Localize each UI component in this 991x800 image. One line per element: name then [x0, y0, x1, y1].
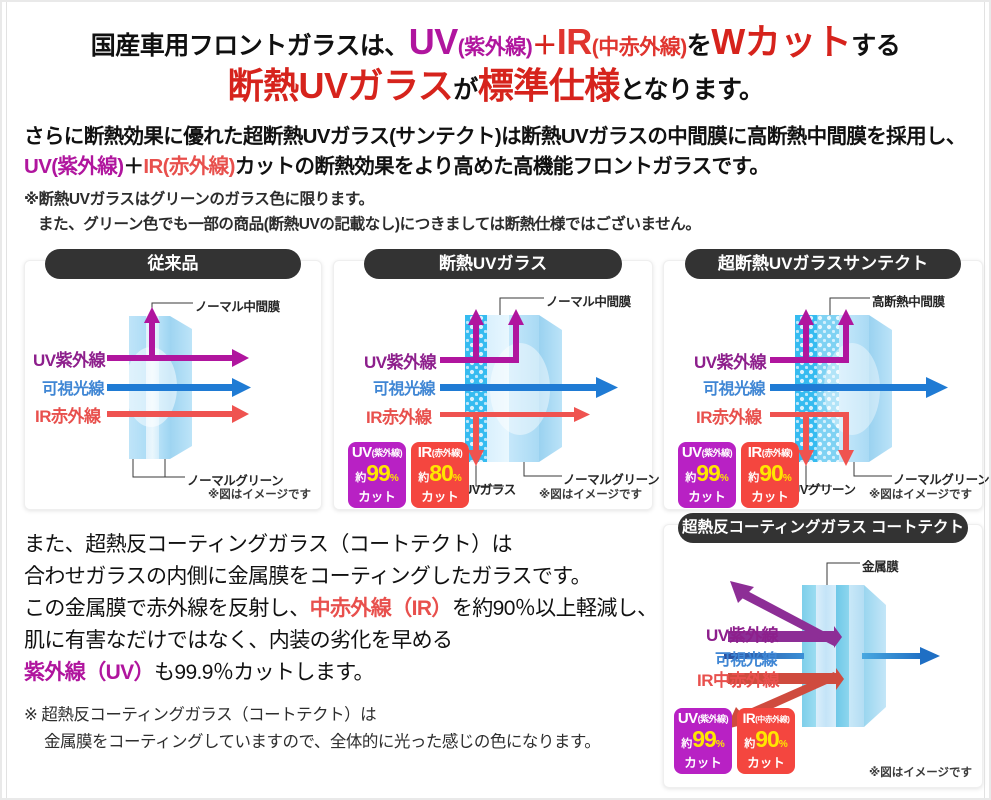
image-note-coat-tect: ※図はイメージです — [869, 764, 972, 780]
image-note-uv-insulated: ※図はイメージです — [539, 486, 642, 502]
headline-wo: を — [687, 32, 712, 60]
coat-tect-ir-highlight: 中赤外線（IR） — [310, 597, 452, 620]
panel-title-coat-tect: 超熱反コーティングガラス コートテクト — [678, 513, 968, 543]
callout-line-bottom-conventional — [133, 459, 185, 477]
badge-uv-head: UV(紫外線) — [674, 711, 732, 727]
badge-ir-head: IR(赤外線) — [411, 445, 469, 461]
image-note-super-uv: ※図はイメージです — [869, 486, 972, 502]
ray-label-visible: 可視光線 — [42, 375, 104, 399]
ray-label-visible: 可視光線 — [703, 375, 765, 399]
headline-plus: ＋ — [532, 32, 557, 60]
ray-label-ir: IR赤外線 — [696, 403, 762, 428]
callout-normal-interlayer: ノーマル中間膜 — [195, 296, 280, 315]
badge-group-uv-insulated: UV(紫外線) 約99% カット IR(赤外線) 約80% カット — [348, 442, 469, 508]
ray-label-ir: IR赤外線 — [35, 402, 101, 427]
page-headline: 国産車用フロントガラスは、UV(紫外線)＋IR(中赤外線)をWカットする 断熱U… — [2, 20, 989, 108]
badge-ir-cut-label: カット — [737, 756, 795, 770]
ray-label-uv: UV紫外線 — [364, 348, 436, 373]
badge-uv-cut: UV(紫外線) 約99% カット — [674, 708, 732, 774]
ray-label-visible: 可視光線 — [373, 375, 435, 399]
badge-ir-cut-label: カット — [411, 490, 469, 504]
headline-seg: 国産車用フロントガラスは、 — [91, 32, 409, 60]
glass-color-note: ※断熱UVガラスはグリーンのガラス色に限ります。 また、グリーン色でも一部の商品… — [24, 188, 700, 238]
panel-super-uv-suntect: 超断熱UVガラスサンテクト — [663, 260, 983, 510]
ray-label-uv: UV紫外線 — [33, 346, 105, 371]
coat-tect-note-line-1: ※ 超熱反コーティングガラス（コートテクト）は — [24, 706, 376, 724]
headline-line-2: 断熱UVガラスが標準仕様となります。 — [2, 64, 989, 108]
coat-tect-line-5: 紫外線（UV）も99.9％カットします。 — [24, 657, 658, 689]
coat-tect-note-line-2: 金属膜をコーティングしていますので、全体的に光った感じの色になります。 — [24, 729, 600, 756]
badge-ir-cut: IR(赤外線) 約80% カット — [411, 442, 469, 508]
badge-uv-value: 約99% — [678, 462, 736, 490]
panel-coat-tect: 超熱反コーティングガラス コートテクト — [663, 524, 983, 788]
headline-standard: 標準仕様 — [478, 65, 620, 106]
coat-tect-uv-highlight: 紫外線（UV） — [24, 661, 154, 684]
badge-ir-cut-label: カット — [741, 490, 799, 504]
coat-tect-description: また、超熱反コーティングガラス（コートテクト）は 合わせガラスの内側に金属膜をコ… — [24, 529, 658, 689]
headline-ir-paren: (中赤外線) — [592, 36, 687, 59]
coat-tect-note: ※ 超熱反コーティングガラス（コートテクト）は 金属膜をコーティングしていますの… — [24, 702, 600, 755]
subtitle-ir: IR(赤外線) — [143, 155, 234, 178]
ray-label-ir: IR赤外線 — [366, 403, 432, 428]
badge-uv-value: 約99% — [674, 728, 732, 756]
panel-uv-insulated: 断熱UVガラス — [333, 260, 653, 510]
badge-ir-cut: IR(中赤外線) 約90% カット — [737, 708, 795, 774]
callout-metal-film: 金属膜 — [862, 556, 898, 575]
badge-uv-head: UV(紫外線) — [678, 445, 736, 461]
badge-ir-head: IR(赤外線) — [741, 445, 799, 461]
badge-uv-cut-label: カット — [348, 490, 406, 504]
panel-conventional: 従来品 — [24, 260, 322, 510]
headline-product: 断熱UVガラス — [227, 65, 453, 106]
subtitle-block: さらに断熱効果に優れた超断熱UVガラス(サンテクト)は断熱UVガラスの中間膜に高… — [24, 122, 973, 181]
badge-uv-cut: UV(紫外線) 約99% カット — [678, 442, 736, 508]
badge-uv-value: 約99% — [348, 462, 406, 490]
coat-tect-line-4: 肌に有害なだけではなく、内装の劣化を早める — [24, 625, 658, 657]
panel-title-super-uv-suntect: 超断熱UVガラスサンテクト — [685, 249, 961, 279]
subtitle-uv: UV(紫外線) — [24, 155, 123, 178]
note-line-2: また、グリーン色でも一部の商品(断熱UVの記載なし)につきましては断熱仕様ではご… — [24, 213, 700, 238]
badge-ir-cut: IR(赤外線) 約90% カット — [741, 442, 799, 508]
subtitle-line-2: UV(紫外線)＋IR(赤外線)カットの断熱効果をより高めた高機能フロントガラスで… — [24, 152, 973, 182]
headline-uv: UV — [409, 21, 458, 62]
headline-wcut: Wカット — [711, 21, 851, 62]
headline-suru: する — [851, 32, 900, 60]
panel-title-uv-insulated: 断熱UVガラス — [364, 249, 622, 279]
headline-ir: IR — [557, 21, 592, 62]
badge-uv-cut-label: カット — [678, 490, 736, 504]
badge-uv-head: UV(紫外線) — [348, 445, 406, 461]
badge-uv-cut-label: カット — [674, 756, 732, 770]
badge-ir-value: 約90% — [737, 728, 795, 756]
ray-label-ir-mid: IR中赤外線 — [697, 666, 779, 691]
note-line-1: ※断熱UVガラスはグリーンのガラス色に限ります。 — [24, 191, 374, 208]
badge-ir-value: 約80% — [411, 462, 469, 490]
callout-line-metal-film — [827, 563, 860, 585]
callout-normal-interlayer: ノーマル中間膜 — [546, 291, 631, 310]
infographic-page: 国産車用フロントガラスは、UV(紫外線)＋IR(中赤外線)をWカットする 断熱U… — [0, 0, 991, 800]
badge-uv-cut: UV(紫外線) 約99% カット — [348, 442, 406, 508]
badge-ir-value: 約90% — [741, 462, 799, 490]
callout-line-top-conventional — [152, 303, 193, 316]
panel-title-conventional: 従来品 — [45, 249, 301, 279]
ray-label-uv: UV紫外線 — [706, 621, 778, 646]
callout-high-insulation-interlayer: 高断熱中間膜 — [872, 291, 945, 310]
subtitle-plus: ＋ — [123, 155, 143, 178]
subtitle-rest: カットの断熱効果をより高めた高機能フロントガラスです。 — [235, 155, 769, 178]
subtitle-line-1: さらに断熱効果に優れた超断熱UVガラス(サンテクト)は断熱UVガラスの中間膜に高… — [24, 122, 973, 152]
coat-tect-line-1: また、超熱反コーティングガラス（コートテクト）は — [24, 529, 658, 561]
coat-tect-line-2: 合わせガラスの内側に金属膜をコーティングしたガラスです。 — [24, 561, 658, 593]
image-note-conventional: ※図はイメージです — [208, 486, 311, 502]
badge-group-super-uv: UV(紫外線) 約99% カット IR(赤外線) 約90% カット — [678, 442, 799, 508]
coat-tect-line-3: この金属膜で赤外線を反射し、中赤外線（IR）を約90％以上軽減し、 — [24, 593, 658, 625]
badge-ir-head: IR(中赤外線) — [737, 711, 795, 727]
ray-label-uv: UV紫外線 — [694, 348, 766, 373]
headline-uv-paren: (紫外線) — [458, 36, 533, 59]
badge-group-coat-tect: UV(紫外線) 約99% カット IR(中赤外線) 約90% カット — [674, 708, 795, 774]
headline-ga: が — [453, 76, 478, 104]
headline-line-1: 国産車用フロントガラスは、UV(紫外線)＋IR(中赤外線)をWカットする — [2, 20, 989, 64]
headline-tail: となります。 — [620, 76, 764, 104]
